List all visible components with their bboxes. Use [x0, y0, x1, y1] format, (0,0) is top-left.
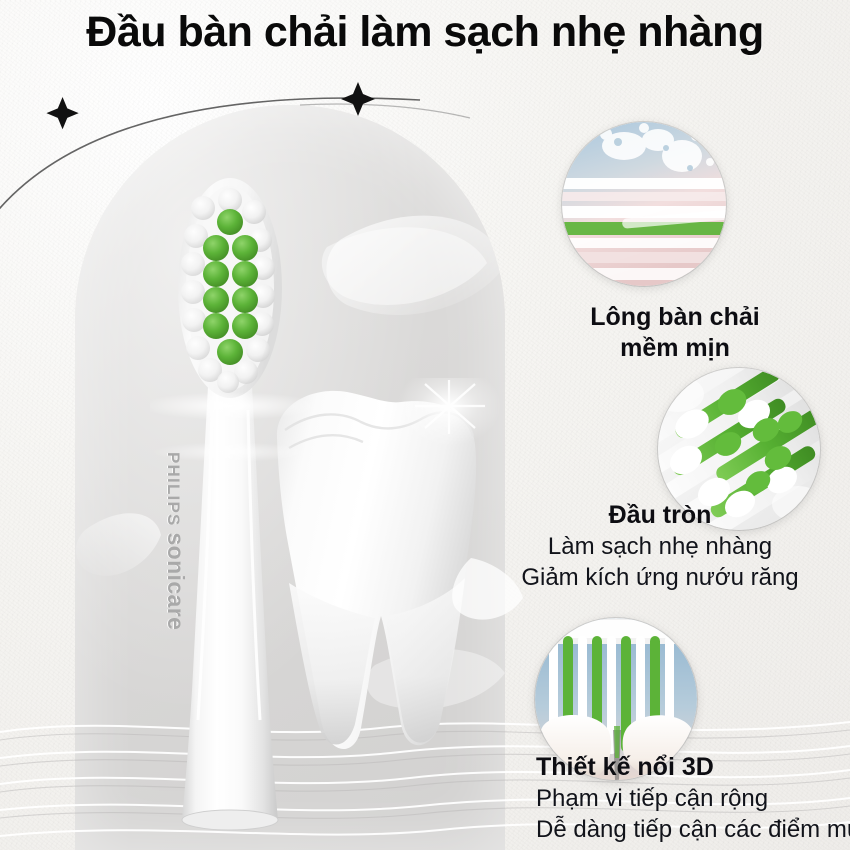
feature-1-heading-line2: mềm mịn	[540, 333, 810, 364]
feature-1-caption: Lông bàn chải mềm mịn	[540, 302, 810, 365]
feature-3-sub-line2: Dễ dàng tiếp cận các điểm mù	[536, 814, 850, 845]
feature-3-caption: Thiết kế nổi 3D Phạm vi tiếp cận rộng Dễ…	[536, 752, 850, 846]
feature-2-caption: Đầu tròn Làm sạch nhẹ nhàng Giảm kích ứn…	[470, 500, 850, 594]
feature-2-heading: Đầu tròn	[470, 500, 850, 531]
feature-3-sub-line1: Phạm vi tiếp cận rộng	[536, 783, 850, 814]
bristles-water-closeup-icon	[562, 122, 726, 286]
feature-2-sub-line1: Làm sạch nhẹ nhàng	[470, 531, 850, 562]
sparkle-star-icon	[46, 97, 78, 129]
page-title: Đầu bàn chải làm sạch nhẹ nhàng	[0, 8, 850, 57]
feature-1-photo	[562, 122, 726, 286]
feature-1-heading-line1: Lông bàn chải	[540, 302, 810, 333]
feature-soft-bristles: Lông bàn chải mềm mịn	[540, 122, 840, 365]
sparkle-star-icon	[341, 82, 375, 116]
product-feature-graphic: PHILIPS sonicare Đầu bàn chải làm sạch n…	[0, 0, 850, 850]
brand-sonicare: sonicare	[163, 532, 189, 630]
feature-3-heading: Thiết kế nổi 3D	[536, 752, 850, 783]
brand-philips: PHILIPS	[164, 452, 183, 527]
feature-2-sub-line2: Giảm kích ứng nướu răng	[470, 562, 850, 593]
brand-imprint: PHILIPS sonicare	[162, 452, 189, 652]
